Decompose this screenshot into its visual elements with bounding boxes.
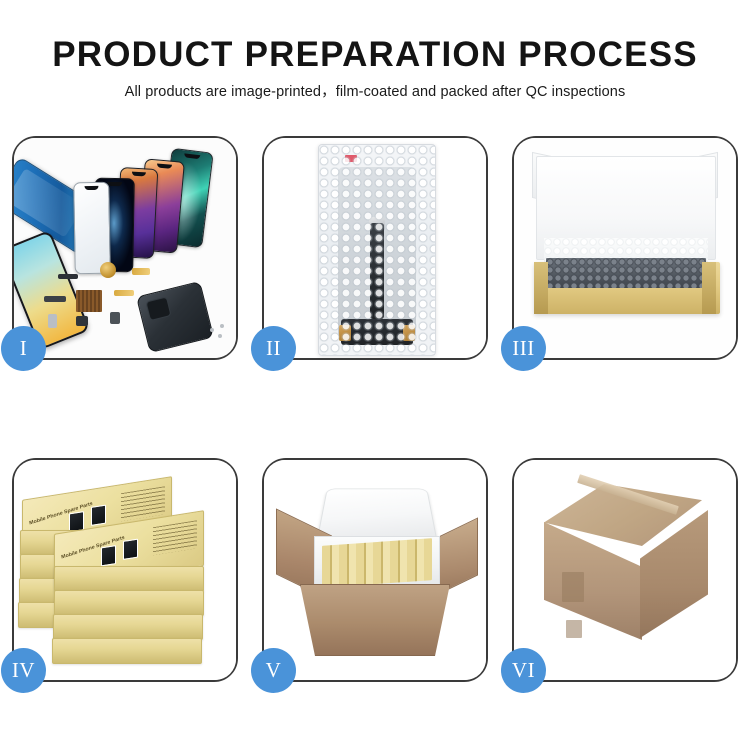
step-panel-2: II [262, 136, 488, 360]
tray-lip-right-icon [702, 262, 716, 314]
step-2-image [264, 138, 486, 358]
foam-lid-icon [316, 489, 438, 543]
bubble-wrap-bag-icon [318, 144, 436, 356]
red-label-icon [345, 155, 357, 162]
flex-cable-icon [370, 223, 384, 319]
connector-part-icon [44, 296, 66, 302]
screw-part-icon [218, 334, 222, 338]
step-panel-3: III [512, 136, 738, 360]
box-layer-front [54, 590, 204, 616]
page-title: PRODUCT PREPARATION PROCESS [0, 34, 750, 76]
step-badge-3: III [501, 326, 546, 371]
box-layer-front [53, 614, 203, 640]
product-preparation-process-page: PRODUCT PREPARATION PROCESS All products… [0, 0, 750, 750]
step-panel-4: Mobile Phone Spare Parts [12, 458, 238, 682]
box-layer-front [52, 638, 202, 664]
battery-cell-part-icon [48, 314, 57, 328]
step-badge-5: V [251, 648, 296, 693]
step-badge-4: IV [1, 648, 46, 693]
step-4-image: Mobile Phone Spare Parts [14, 460, 236, 680]
box-stack: Mobile Phone Spare Parts [18, 474, 236, 670]
flex-ribbon-part-icon [114, 290, 134, 296]
gold-tab-icon [339, 325, 351, 341]
box-spec-lines [153, 520, 197, 555]
box-spec-lines [121, 486, 165, 521]
step-3-image [514, 138, 736, 358]
camera-module-part-icon [76, 316, 88, 326]
vibrator-part-icon [110, 312, 120, 324]
chip-grid-part-icon [76, 290, 102, 312]
box-screen-image-icon [101, 545, 116, 566]
box-layer-front [54, 566, 204, 592]
step-6-image [514, 460, 736, 680]
open-gold-box-image [514, 138, 736, 358]
carton-body-icon [300, 584, 450, 656]
box-screen-image-icon [123, 539, 138, 560]
gold-boxes-row-icon [322, 538, 432, 588]
gold-coil-part-icon [100, 262, 116, 278]
bubble-wrapped-screen-image [264, 138, 486, 358]
step-badge-2: II [251, 326, 296, 371]
stacked-boxes-image: Mobile Phone Spare Parts [14, 460, 236, 680]
sealed-carton-image [514, 460, 736, 680]
flex-cable-part-icon [132, 268, 150, 275]
phone-back-housing-icon [136, 281, 214, 353]
process-steps-grid: I II [12, 136, 738, 682]
step-badge-1: I [1, 326, 46, 371]
phone-parts-collage-image [14, 138, 236, 358]
box-screen-image-icon [91, 505, 106, 526]
step-panel-1: I [12, 136, 238, 360]
step-panel-6: VI [512, 458, 738, 682]
step-panel-5: V [262, 458, 488, 682]
screw-part-icon [220, 324, 224, 328]
carton-tab-icon [562, 572, 584, 602]
header: PRODUCT PREPARATION PROCESS All products… [0, 34, 750, 101]
step-5-image [264, 460, 486, 680]
speaker-mesh-part-icon [58, 274, 78, 279]
step-badge-6: VI [501, 648, 546, 693]
carton-with-foam-image [264, 460, 486, 680]
tray-lip-left-icon [534, 262, 548, 314]
glass-protector-icon [73, 182, 111, 275]
packed-items-icon [546, 258, 706, 288]
carton-tab-icon [566, 620, 582, 638]
step-1-image [14, 138, 236, 358]
screw-part-icon [210, 328, 214, 332]
page-subtitle: All products are image-printed，film-coat… [0, 83, 750, 101]
gold-tab-icon [403, 325, 415, 341]
